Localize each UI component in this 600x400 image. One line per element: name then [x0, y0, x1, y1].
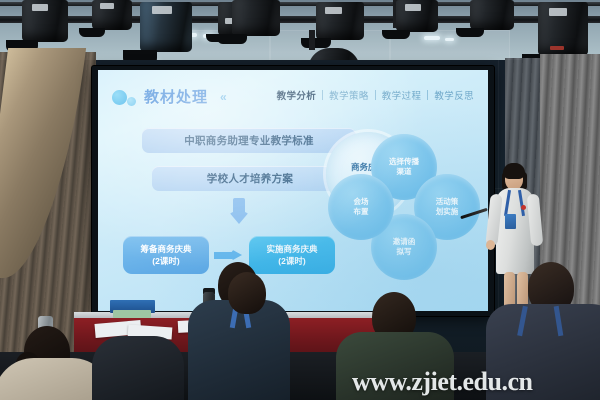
tab-teaching-analysis[interactable]: 教学分析 [271, 88, 323, 102]
audience-jacket [92, 336, 184, 400]
slide-tabs: 教学分析 教学策略 教学过程 教学反思 [271, 88, 480, 102]
screenshot-scene: 教材处理 « 教学分析 教学策略 教学过程 教学反思 中职商务助理专业教学标准 … [0, 0, 600, 400]
petal-line2: 布置 [354, 207, 369, 217]
flower-diagram: 选择传播 渠道 活动策 划实施 邀请函 拟写 会场 布置 [326, 132, 482, 282]
table-green-item [113, 310, 151, 318]
petal-line1: 会场 [354, 197, 369, 207]
petal-venue-layout: 会场 布置 [328, 174, 394, 240]
petal-line2: 渠道 [389, 167, 419, 177]
flow-step-hours: (2课时) [278, 255, 305, 267]
petal-line2: 划实施 [436, 207, 459, 217]
tab-teaching-reflection[interactable]: 教学反思 [428, 88, 480, 102]
logo-dot-small [127, 97, 136, 106]
projection-screen: 教材处理 « 教学分析 教学策略 教学过程 教学反思 中职商务助理专业教学标准 … [98, 70, 488, 311]
watermark: www.zjiet.edu.cn [352, 368, 596, 396]
standard-box-training-plan: 学校人才培养方案 [152, 166, 348, 191]
right-arrow-icon [214, 249, 244, 262]
tab-teaching-process[interactable]: 教学过程 [376, 88, 428, 102]
flow-step-implement: 实施商务庆典 (2课时) [249, 236, 335, 274]
petal-line1: 邀请函 [393, 237, 416, 247]
recessed-light [424, 36, 440, 40]
flow-step-title: 实施商务庆典 [266, 243, 317, 255]
presenter-hair [503, 163, 525, 179]
flow-step-hours: (2课时) [152, 255, 179, 267]
petal-line1: 活动策 [436, 197, 459, 207]
logo-dot-large [112, 90, 127, 105]
tab-teaching-strategy[interactable]: 教学策略 [323, 88, 375, 102]
audience-jacket [188, 300, 290, 400]
presenter-hand [486, 240, 495, 250]
chevron-left-icon: « [220, 90, 226, 104]
audience-head [228, 272, 266, 314]
standard-box-curriculum: 中职商务助理专业教学标准 [142, 128, 356, 153]
petal-line2: 拟写 [393, 247, 416, 257]
lanyard-badge [505, 214, 516, 229]
down-arrow-icon [228, 198, 250, 224]
slide-title: 教材处理 [144, 86, 208, 107]
lapel-pin [521, 205, 526, 210]
recessed-light [445, 38, 454, 41]
flow-step-prepare: 筹备商务庆典 (2课时) [123, 236, 209, 274]
blue-dots-logo-icon [112, 90, 140, 108]
slide-header: 教材处理 « 教学分析 教学策略 教学过程 教学反思 [98, 84, 488, 114]
flow-step-title: 筹备商务庆典 [140, 243, 191, 255]
petal-line1: 选择传播 [389, 157, 419, 167]
